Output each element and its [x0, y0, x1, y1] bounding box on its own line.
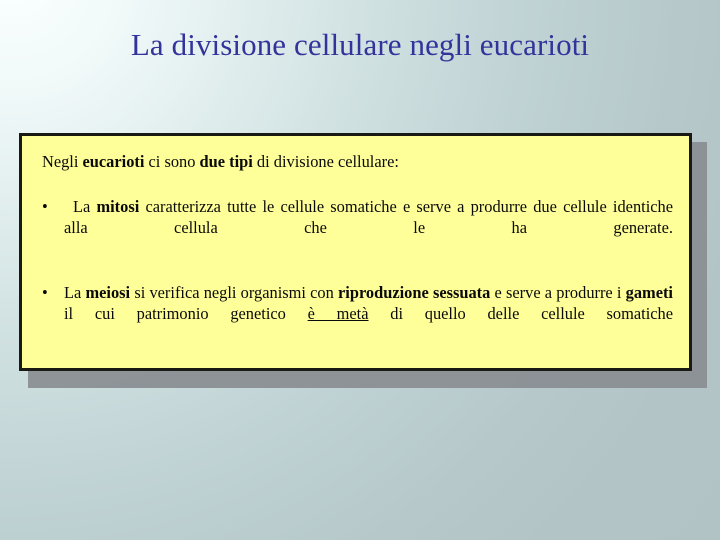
underlined-text: è metà	[308, 304, 369, 323]
emphasis-text: gameti	[626, 283, 673, 302]
body-text: si verifica negli organismi con	[130, 283, 338, 302]
list-item-text-wrapper: La meiosi si verifica negli organismi co…	[64, 282, 675, 345]
body-text: di quello delle cellule somatiche	[369, 304, 674, 323]
emphasis-text: meiosi	[86, 283, 131, 302]
body-text: caratterizza tutte le cellule somatiche …	[64, 197, 673, 237]
list-item-text: La mitosi caratterizza tutte le cellule …	[64, 196, 673, 259]
slide-canvas: La divisione cellulare negli eucarioti N…	[0, 0, 720, 540]
body-text: e serve a produrre i	[490, 283, 625, 302]
title-placeholder: La divisione cellulare negli eucarioti	[36, 14, 684, 76]
page-title: La divisione cellulare negli eucarioti	[131, 27, 589, 63]
emphasis-text: riproduzione sessuata	[338, 283, 490, 302]
body-text: il cui patrimonio genetico	[64, 304, 308, 323]
body-text: La	[64, 283, 86, 302]
intro-paragraph: Negli eucarioti ci sono due tipi di divi…	[42, 151, 675, 172]
emphasis-text: due tipi	[200, 152, 253, 171]
body-text: Negli	[42, 152, 83, 171]
list-item: • La mitosi caratterizza tutte le cellul…	[36, 196, 675, 259]
content-box: Negli eucarioti ci sono due tipi di divi…	[19, 133, 692, 371]
emphasis-text: eucarioti	[83, 152, 145, 171]
list-item-text: La meiosi si verifica negli organismi co…	[64, 282, 673, 345]
body-text: La	[73, 197, 96, 216]
body-text: ci sono	[144, 152, 199, 171]
list-item-text-wrapper: La mitosi caratterizza tutte le cellule …	[64, 196, 675, 259]
bullet-marker-icon: •	[36, 282, 64, 303]
bullet-marker-icon: •	[36, 196, 64, 217]
list-item: • La meiosi si verifica negli organismi …	[36, 282, 675, 345]
body-text: di divisione cellulare:	[253, 152, 399, 171]
emphasis-text: mitosi	[96, 197, 139, 216]
